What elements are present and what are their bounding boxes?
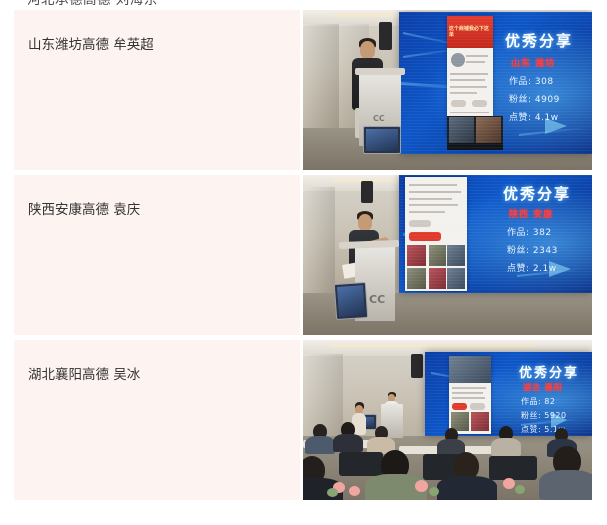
app-text-line <box>409 184 457 186</box>
light-ray <box>403 48 463 58</box>
attendee-shoulders <box>491 438 521 456</box>
table-body: 山东潍坊高德 牟英超 <box>0 5 607 500</box>
triangle-glow <box>549 261 571 277</box>
triangle-glow <box>545 118 567 134</box>
name-box: 陕西安康高德 袁庆 <box>14 175 300 335</box>
presentation-photo[interactable]: 这个商铺我必下这单 <box>303 10 592 170</box>
light-ray <box>401 82 485 91</box>
row-name-label: 湖北襄阳高德 吴冰 <box>28 366 300 384</box>
row-name-label: 山东潍坊高德 牟英超 <box>28 36 300 54</box>
app-button <box>409 220 431 227</box>
table-row: 山东潍坊高德 牟英超 <box>0 5 607 170</box>
slide-stat-works: 作品: 82 <box>521 396 555 407</box>
slide-title: 优秀分享 <box>503 183 571 204</box>
flower <box>349 486 360 496</box>
head <box>360 41 375 59</box>
app-primary-button <box>409 232 441 241</box>
chair <box>489 456 537 480</box>
wall-panel <box>303 24 339 144</box>
photo-cell: 这个商铺我必下这单 <box>300 5 607 170</box>
app-thumb <box>471 118 489 135</box>
leaf <box>429 487 439 496</box>
attendee-shoulders <box>437 476 497 500</box>
table-row: 陕西安康高德 袁庆 <box>0 170 607 335</box>
app-text-line <box>466 61 484 63</box>
podium-monitor <box>363 126 401 154</box>
video-call-strip <box>447 116 503 150</box>
name-cell: 山东潍坊高德 牟英超 <box>0 5 300 170</box>
app-banner-text: 这个商铺我必下这单 <box>449 26 491 38</box>
table-row: 湖北襄阳高德 吴冰 <box>0 335 607 500</box>
app-button <box>472 100 488 107</box>
app-hero-image <box>449 356 491 383</box>
video-toolbar <box>447 143 503 150</box>
app-thumb <box>447 268 464 289</box>
leaf <box>515 485 525 494</box>
monitor-screen <box>337 285 365 317</box>
app-text-line <box>452 387 486 389</box>
app-thumb <box>429 268 446 289</box>
app-screenshot-inset: 这个商铺我必下这单 <box>447 16 493 138</box>
app-text-line <box>450 79 485 81</box>
app-thumb <box>407 268 426 289</box>
podium-top <box>355 68 405 75</box>
app-banner <box>447 16 493 48</box>
app-text-line <box>409 211 445 213</box>
slide-stat-fans: 粉丝: 4909 <box>509 92 560 105</box>
light-ray <box>521 418 581 426</box>
led-screen: 优秀分享 陕西 安康 作品: 382 粉丝: 2343 点赞: 2.1w <box>399 175 592 293</box>
presentation-photo[interactable]: 优秀分享 湖北 襄阳 作品: 82 粉丝: 5920 点赞: 5.1w <box>303 340 592 500</box>
podium-logo: CC <box>373 114 385 123</box>
photo-cell: 优秀分享 陕西 安康 作品: 382 粉丝: 2343 点赞: 2.1w <box>300 170 607 335</box>
video-cell <box>476 117 501 142</box>
slide-stat-fans: 粉丝: 2343 <box>507 243 558 256</box>
podium-monitor <box>334 282 368 320</box>
name-box: 湖北襄阳高德 吴冰 <box>14 340 300 500</box>
app-text-line <box>409 204 459 206</box>
slide-stat-works: 作品: 308 <box>509 74 554 87</box>
photo-scene: 优秀分享 陕西 安康 作品: 382 粉丝: 2343 点赞: 2.1w <box>303 175 592 335</box>
video-cell <box>449 117 474 142</box>
app-text-line <box>450 92 478 94</box>
name-box: 山东潍坊高德 牟英超 <box>14 10 300 170</box>
slide-subtitle: 湖北 襄阳 <box>523 382 563 393</box>
chair <box>339 452 383 476</box>
slide-stat-likes: 点赞: 4.1w <box>509 110 559 123</box>
row-name-label: 陕西安康高德 袁庆 <box>28 201 300 219</box>
flower <box>503 478 515 489</box>
app-text-line <box>409 198 452 200</box>
app-screenshot-inset <box>449 356 491 434</box>
app-text-line <box>450 73 489 75</box>
head <box>358 214 372 231</box>
light-ray <box>519 127 587 136</box>
slide-stat-works: 作品: 382 <box>507 225 552 238</box>
app-text-line <box>452 397 486 399</box>
podium-logo: CC <box>369 293 385 306</box>
leaf <box>327 488 338 497</box>
slide-stat-fans: 粉丝: 5920 <box>521 410 567 421</box>
name-cell: 湖北襄阳高德 吴冰 <box>0 335 300 500</box>
attendee-shoulders <box>305 436 335 454</box>
attendee-shoulders <box>333 434 363 452</box>
monitor-screen <box>366 129 398 151</box>
app-avatar <box>451 53 465 67</box>
app-text-line <box>450 112 490 113</box>
slide-title: 优秀分享 <box>519 362 579 381</box>
light-ray <box>403 227 475 236</box>
app-thumb <box>429 245 446 266</box>
name-cell: 陕西安康高德 袁庆 <box>0 170 300 335</box>
app-thumb <box>471 412 489 431</box>
slide-subtitle: 山东 潍坊 <box>511 56 555 69</box>
photo-scene: 优秀分享 湖北 襄阳 作品: 82 粉丝: 5920 点赞: 5.1w <box>303 340 592 500</box>
app-thumb <box>447 245 464 266</box>
led-screen: 这个商铺我必下这单 <box>399 12 592 154</box>
app-thumb <box>407 245 426 266</box>
share-report-table: 山东潍坊高德 牟英超 <box>0 5 607 500</box>
app-text-line <box>452 392 483 394</box>
photo-scene: 这个商铺我必下这单 <box>303 10 592 170</box>
slide-subtitle: 陕西 安康 <box>509 207 553 220</box>
led-screen: 优秀分享 湖北 襄阳 作品: 82 粉丝: 5920 点赞: 5.1w <box>425 352 592 436</box>
presentation-photo[interactable]: 优秀分享 陕西 安康 作品: 382 粉丝: 2343 点赞: 2.1w <box>303 175 592 335</box>
app-screenshot-inset <box>405 177 467 291</box>
light-ray <box>431 372 481 383</box>
wall-speaker <box>361 181 373 203</box>
wall-speaker <box>411 354 423 378</box>
triangle-glow <box>551 412 567 428</box>
app-button <box>470 403 485 410</box>
app-thumb <box>450 118 468 135</box>
slide-title: 优秀分享 <box>505 30 573 51</box>
app-primary-button <box>452 403 467 410</box>
app-text-line <box>466 55 488 57</box>
slide-stat-likes: 点赞: 2.1w <box>507 261 557 274</box>
flower <box>415 480 428 492</box>
app-text-line <box>409 191 461 193</box>
light-ray <box>403 32 472 49</box>
light-ray <box>405 201 468 214</box>
app-text-line <box>450 86 487 88</box>
app-button <box>451 100 467 107</box>
ceiling-light <box>332 344 534 347</box>
attendee-shoulders <box>539 470 592 500</box>
light-ray <box>517 268 583 277</box>
photo-cell: 优秀分享 湖北 襄阳 作品: 82 粉丝: 5920 点赞: 5.1w <box>300 335 607 500</box>
